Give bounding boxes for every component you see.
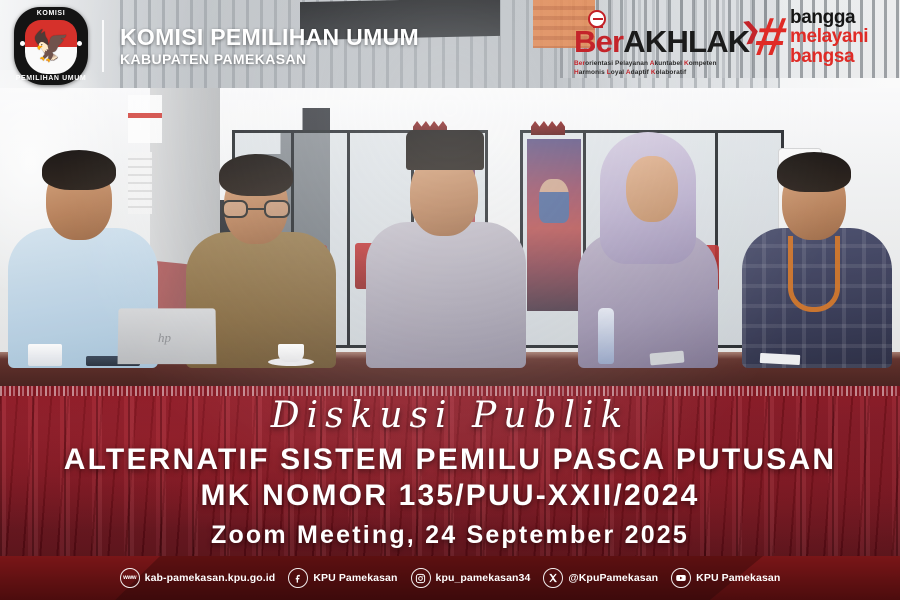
poster-canvas: KOMISI PEMILIHAN UMUM 🦅 KOMISI PEMILIHAN… (0, 0, 900, 600)
event-title-script: Diskusi Publik (0, 396, 900, 436)
www-glyph: www (123, 575, 136, 581)
paper-slip (760, 353, 800, 365)
tagline-l1-a: Ber (574, 60, 585, 67)
tagline-l2-b: armonis (579, 69, 607, 76)
header-title: KOMISI PEMILIHAN UMUM (120, 25, 419, 49)
event-title-block: Diskusi Publik ALTERNATIF SISTEM PEMILU … (0, 396, 900, 551)
event-title-line1: ALTERNATIF SISTEM PEMILU PASCA PUTUSAN (0, 442, 900, 479)
instagram-icon (411, 568, 431, 588)
bmb-line-bangsa: bangsa (790, 47, 868, 66)
social-instagram[interactable]: kpu_pamekasan34 (411, 568, 531, 588)
orange-lanyard (788, 236, 840, 312)
social-x-label: @KpuPamekasan (568, 572, 658, 584)
berakhlak-wordmark: BerAKHLAK ❯ (574, 26, 754, 57)
panelist-1-hair (42, 150, 116, 190)
kpu-logo-bottom-text: PEMILIHAN UMUM (14, 75, 88, 82)
x-twitter-icon (543, 568, 563, 588)
hp-laptop (118, 308, 217, 364)
garuda-pancasila-icon: 🦅 (32, 32, 69, 62)
panelist-5-hair (777, 152, 851, 192)
berakhlak-tagline: Berorientasi Pelayanan Akuntabel Kompete… (574, 59, 754, 78)
eyeglasses-icon (222, 200, 290, 218)
panelist-2-hair (219, 154, 293, 196)
tagline-l2-f: daptif (631, 69, 651, 76)
kpu-logo: KOMISI PEMILIHAN UMUM 🦅 (14, 7, 88, 85)
social-links: www kab-pamekasan.kpu.go.id KPU Pamekasa… (0, 556, 900, 600)
social-website[interactable]: www kab-pamekasan.kpu.go.id (120, 568, 276, 588)
header-text-block: KOMISI PEMILIHAN UMUM KABUPATEN PAMEKASA… (120, 25, 419, 67)
berakhlak-logo: BerAKHLAK ❯ Berorientasi Pelayanan Akunt… (574, 12, 754, 78)
tagline-l1-b: orientasi Pelayanan (585, 60, 650, 67)
tagline-l1-f: ompeten (689, 60, 717, 67)
social-x[interactable]: @KpuPamekasan (543, 568, 658, 588)
social-youtube[interactable]: KPU Pamekasan (671, 568, 780, 588)
event-title-line3: Zoom Meeting, 24 September 2025 (0, 519, 900, 552)
bmb-line-melayani: melayani (790, 27, 868, 46)
wall-notice-board (128, 152, 152, 214)
header-subtitle: KABUPATEN PAMEKASAN (120, 51, 419, 67)
social-website-label: kab-pamekasan.kpu.go.id (145, 572, 276, 584)
social-instagram-label: kpu_pamekasan34 (436, 572, 531, 584)
social-facebook[interactable]: KPU Pamekasan (288, 568, 397, 588)
water-bottle (598, 308, 614, 364)
tagline-l2-h: olaboratif (656, 69, 687, 76)
event-title-line2: MK NOMOR 135/PUU-XXII/2024 (0, 478, 900, 515)
bmb-wordmark: bangga melayani bangsa (790, 8, 868, 66)
www-globe-icon: www (120, 568, 140, 588)
garuda-shield: 🦅 (25, 20, 77, 74)
coffee-cup (278, 344, 304, 362)
panelist-4-face (626, 156, 678, 222)
social-facebook-label: KPU Pamekasan (313, 572, 397, 584)
berakhlak-word-akhlak: AKHLAK (623, 24, 749, 59)
tagline-l1-d: kuntabel (655, 60, 684, 67)
tissue-box (28, 344, 62, 366)
kpu-logo-top-text: KOMISI (14, 10, 88, 17)
peci-cap (406, 130, 484, 170)
facebook-icon (288, 568, 308, 588)
header-divider (102, 20, 104, 72)
social-youtube-label: KPU Pamekasan (696, 572, 780, 584)
youtube-icon (671, 568, 691, 588)
hashtag-icon: # (752, 13, 790, 62)
bangga-melayani-bangsa-logo: # bangga melayani bangsa (756, 8, 868, 66)
bmb-line-bangga: bangga (790, 8, 868, 27)
footer-bar: www kab-pamekasan.kpu.go.id KPU Pamekasa… (0, 556, 900, 600)
wall-poster (128, 95, 162, 143)
berakhlak-word-ber: Ber (574, 24, 623, 59)
panelist-3-torso (366, 222, 526, 368)
tagline-l2-d: oyal (611, 69, 626, 76)
